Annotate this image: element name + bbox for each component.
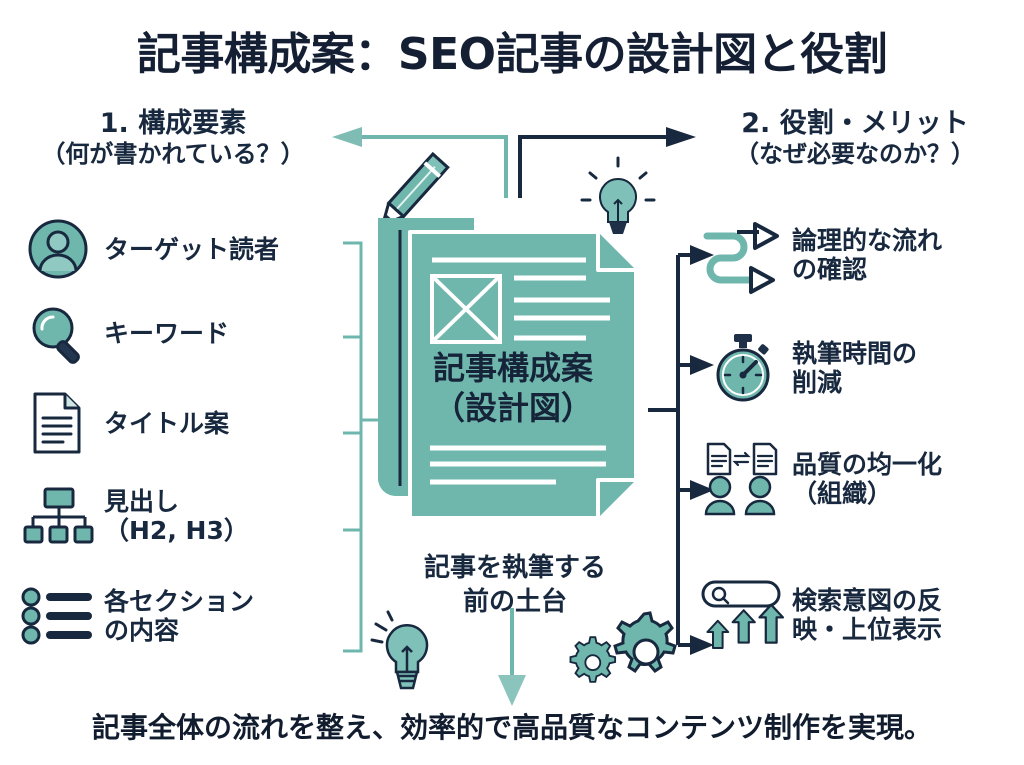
list-item: ターゲット読者: [22, 218, 279, 280]
list-item-label: タイトル案: [104, 409, 229, 438]
list-item-label: ターゲット読者: [104, 235, 279, 264]
lightbulb-icon: [582, 158, 654, 234]
document-title: 記事構成案 （設計図）: [368, 348, 658, 428]
list-item: 検索意図の反 映・上位表示: [700, 578, 942, 652]
list-item: タイトル案: [22, 390, 229, 456]
list-item: キーワード: [22, 302, 229, 364]
hierarchy-icon: [22, 485, 94, 547]
list-item-label: キーワード: [104, 319, 229, 348]
zigzag-arrows-icon: [700, 222, 786, 288]
left-subheading: （何が書かれている？）: [8, 140, 338, 168]
left-column-header: 1. 構成要素 （何が書かれている？）: [8, 108, 338, 168]
list-item: 執筆時間の 削減: [700, 332, 917, 404]
user-avatar-icon: [22, 218, 94, 280]
magnifier-icon: [22, 302, 94, 364]
list-item-label: 検索意図の反 映・上位表示: [792, 586, 942, 644]
list-item: 品質の均一化 （組織）: [700, 442, 942, 516]
right-heading: 2. 役割・メリット: [690, 108, 1020, 140]
list-item-label: 見出し （H2, H3）: [104, 487, 249, 545]
document-icon: [22, 390, 94, 456]
list-item-label: 執筆時間の 削減: [792, 339, 917, 397]
list-item-label: 品質の均一化 （組織）: [792, 450, 942, 508]
two-people-documents-icon: [700, 442, 786, 516]
footer-summary: 記事全体の流れを整え、効率的で高品質なコンテンツ制作を実現。: [0, 706, 1024, 746]
bullet-list-icon: [22, 585, 94, 647]
list-item-label: 論理的な流れ の確認: [792, 226, 942, 284]
gears-icon: [566, 608, 676, 698]
down-arrow-icon: [498, 608, 526, 706]
right-subheading: （なぜ必要なのか？）: [690, 140, 1020, 168]
infographic-canvas: 記事構成案：SEO記事の設計図と役割: [0, 0, 1024, 765]
search-bar-up-arrows-icon: [700, 578, 786, 652]
list-item: 各セクション の内容: [22, 585, 254, 647]
list-item-label: 各セクション の内容: [104, 587, 254, 645]
left-heading: 1. 構成要素: [8, 108, 338, 140]
stopwatch-icon: [700, 332, 786, 404]
list-item: 論理的な流れ の確認: [700, 222, 942, 288]
list-item: 見出し （H2, H3）: [22, 485, 249, 547]
lightbulb-icon: [370, 610, 450, 696]
right-column-header: 2. 役割・メリット （なぜ必要なのか？）: [690, 108, 1020, 168]
